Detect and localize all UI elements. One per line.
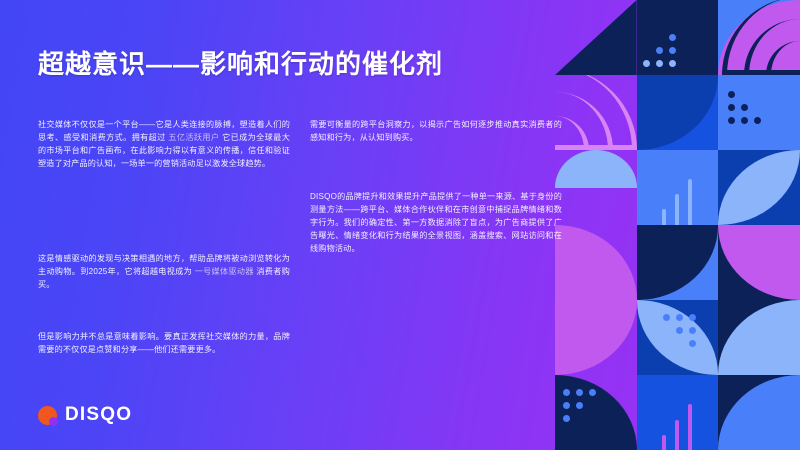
pattern-cell <box>637 375 719 450</box>
dot-matrix <box>663 314 696 347</box>
concentric-arcs <box>718 0 800 75</box>
pattern-cell <box>718 225 800 300</box>
pattern-cell <box>555 225 637 300</box>
pattern-cell <box>637 0 719 75</box>
pattern-cell <box>555 0 637 75</box>
pattern-cell <box>718 375 800 450</box>
pattern-cell <box>555 300 637 375</box>
half-circle-shape <box>555 150 637 188</box>
bar-marks <box>637 375 719 450</box>
left-paragraph-3: 但是影响力并不总是意味着影响。要真正发挥社交媒体的力量，品牌需要的不仅仅是点赞和… <box>38 330 290 356</box>
pattern-cell <box>718 300 800 375</box>
pattern-cell <box>555 150 637 225</box>
pattern-cell <box>718 75 800 150</box>
bar-marks <box>637 150 719 225</box>
highlight-text: 一号媒体驱动器 <box>195 267 254 276</box>
pattern-cell <box>637 225 719 300</box>
logo-text: DISQO <box>65 404 132 426</box>
dot-matrix <box>728 91 761 124</box>
pattern-cell <box>718 0 800 75</box>
page-title: 超越意识——影响和行动的催化剂 <box>38 44 443 81</box>
right-text-column: 需要可衡量的跨平台洞察力，以揭示广告如何逐步推动真实消费者的感知和行为，从认知到… <box>310 118 562 144</box>
triangle-shape <box>555 0 637 75</box>
left-text-column: 社交媒体不仅仅是一个平台——它是人类连接的脉搏，塑造着人们的思考、感受和消费方式… <box>38 118 290 170</box>
pattern-cell <box>555 75 637 150</box>
concentric-arcs <box>555 75 637 150</box>
left-paragraph-2: 这是情感驱动的发现与决策相遇的地方，帮助品牌将被动浏览转化为主动购物。到2025… <box>38 252 290 291</box>
disqo-logo: DISQO <box>38 404 132 426</box>
dot-matrix <box>643 34 676 67</box>
pattern-cell <box>637 150 719 225</box>
pattern-cell <box>718 150 800 225</box>
right-paragraph-2: DISQO的品牌提升和效果提升产品提供了一种单一来源、基于身份的测量方法——跨平… <box>310 190 562 256</box>
quarter-circle-shape <box>555 225 637 300</box>
left-paragraph-1: 社交媒体不仅仅是一个平台——它是人类连接的脉搏，塑造着人们的思考、感受和消费方式… <box>38 118 290 170</box>
disqo-pacman-mark-icon <box>38 406 57 425</box>
right-paragraph-1: 需要可衡量的跨平台洞察力，以揭示广告如何逐步推动真实消费者的感知和行为，从认知到… <box>310 118 562 144</box>
geometric-pattern-grid <box>555 0 800 450</box>
slide-canvas: 超越意识——影响和行动的催化剂 社交媒体不仅仅是一个平台——它是人类连接的脉搏，… <box>0 0 800 450</box>
dot-matrix <box>563 389 596 422</box>
highlight-text: 五亿活跃用户 <box>168 133 219 142</box>
pattern-cell <box>555 375 637 450</box>
pattern-cell <box>637 75 719 150</box>
quarter-circle-shape <box>555 300 637 375</box>
pattern-cell <box>637 300 719 375</box>
